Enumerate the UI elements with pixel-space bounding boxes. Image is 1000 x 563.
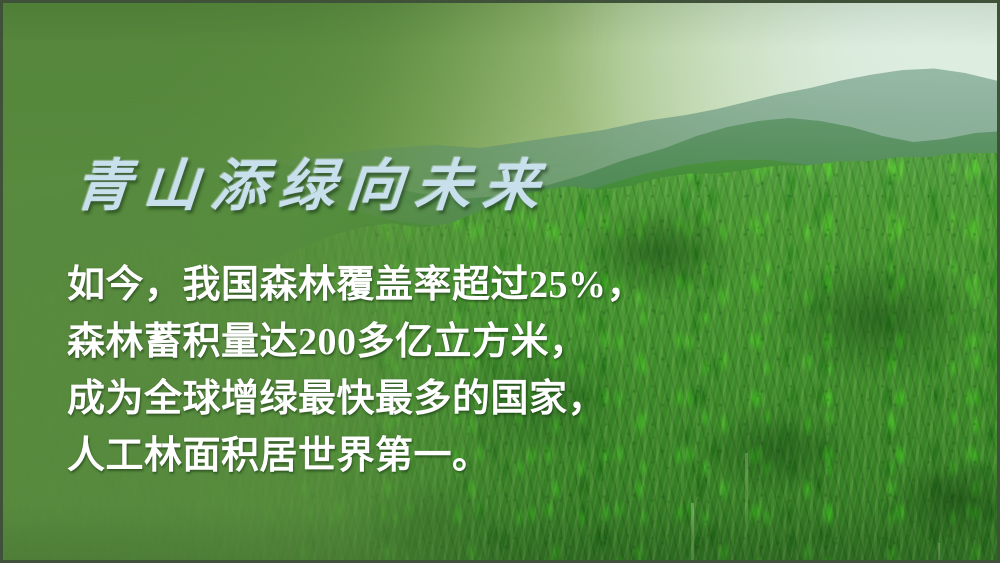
body-copy-block: 如今，我国森林覆盖率超过25%， 森林蓄积量达200多亿立方米， 成为全球增绿最… xyxy=(67,257,627,485)
body-line-4: 人工林面积居世界第一。 xyxy=(67,428,627,485)
slide-canvas: 青山添绿向未来 如今，我国森林覆盖率超过25%， 森林蓄积量达200多亿立方米，… xyxy=(0,0,1000,563)
body-line-1: 如今，我国森林覆盖率超过25%， xyxy=(67,257,627,314)
slide-title: 青山添绿向未来 xyxy=(72,155,554,219)
body-line-2: 森林蓄积量达200多亿立方米， xyxy=(67,314,627,371)
slide-content: 青山添绿向未来 如今，我国森林覆盖率超过25%， 森林蓄积量达200多亿立方米，… xyxy=(3,3,997,560)
body-line-3: 成为全球增绿最快最多的国家， xyxy=(67,371,627,428)
